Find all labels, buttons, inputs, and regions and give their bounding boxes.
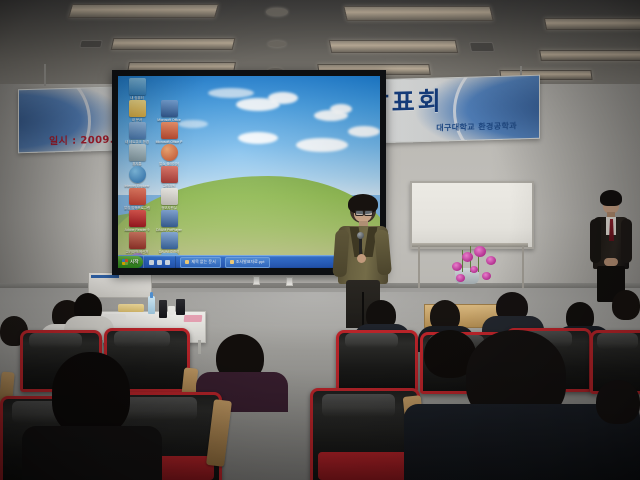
cloud-shape xyxy=(208,88,254,98)
audience-head xyxy=(596,380,640,424)
wall-outlet xyxy=(253,276,260,285)
staff-hair xyxy=(600,190,622,206)
potplayer-icon xyxy=(161,210,178,227)
desktop-icon[interactable]: 내 문서 xyxy=(122,100,152,122)
ceiling-speaker-icon xyxy=(266,8,288,16)
orchid-bloom xyxy=(462,252,473,262)
adobe-reader-icon xyxy=(129,210,146,227)
desktop-icon[interactable]: 알집 압축프로그램 xyxy=(122,188,152,210)
whiteboard-leg xyxy=(418,246,420,288)
table-leg xyxy=(198,340,201,354)
desktop-icon[interactable]: 알쇼 플레이어 xyxy=(154,144,184,166)
seat-gloss xyxy=(597,333,638,348)
start-button[interactable]: 시작 xyxy=(118,256,143,268)
orchid-bloom xyxy=(452,262,462,271)
presenter-arm-right xyxy=(374,229,392,275)
daum-cleaner-icon xyxy=(161,232,178,249)
orchid-bloom xyxy=(482,272,491,280)
ms-word-icon xyxy=(161,100,178,117)
water-bottle xyxy=(150,292,153,298)
audience-shoulders xyxy=(22,426,162,480)
network-places-icon xyxy=(129,122,146,139)
cloud-shape xyxy=(238,132,278,144)
ms-powerpoint-icon xyxy=(161,122,178,139)
presenter-glasses xyxy=(355,210,364,216)
seat-gloss xyxy=(29,333,82,348)
staff-arm-right xyxy=(621,219,632,263)
ceiling-light-fixture xyxy=(544,18,640,30)
ceiling-light-fixture xyxy=(539,50,640,61)
radiator-strip xyxy=(91,275,119,278)
microphone-icon xyxy=(357,232,364,239)
taskbar-item-icon xyxy=(185,260,189,264)
banner-hanger xyxy=(44,64,46,86)
auditorium-seat xyxy=(336,330,412,386)
desktop-icon[interactable]: 고객지원 xyxy=(154,166,184,188)
desktop-icon[interactable]: DAUM PotPlayer xyxy=(154,210,184,232)
lecture-hall-photo: 대구대학교 대학원 발표회 대구대학교 발표회 일시 : 2009. 11. 2… xyxy=(0,0,640,480)
messenger-icon xyxy=(129,232,146,249)
orchid-bloom xyxy=(470,266,478,273)
seat-cushion xyxy=(318,452,414,480)
cloud-shape xyxy=(330,104,352,114)
seat-gloss xyxy=(345,333,398,348)
taskbar-item-label: 조사발표자료.ppt xyxy=(236,259,265,265)
audience-head xyxy=(52,352,130,436)
whiteboard-leg xyxy=(522,246,524,288)
desktop-icon[interactable]: 내 네트워크 환경 xyxy=(122,122,152,144)
windows-flag-icon xyxy=(122,259,128,265)
presenter-hand xyxy=(357,254,366,263)
orchid-bloom xyxy=(486,256,496,265)
my-computer-icon xyxy=(129,78,146,95)
orchid-bloom xyxy=(456,274,465,282)
presenter-leg-split xyxy=(362,292,364,328)
document-file-icon xyxy=(161,188,178,205)
internet-explorer-icon xyxy=(129,166,146,183)
seat-gloss xyxy=(322,394,395,418)
staff-in-suit xyxy=(590,190,632,302)
ceiling-light-fixture xyxy=(329,40,459,53)
seat-gloss xyxy=(114,331,170,346)
taskbar-item-icon xyxy=(230,260,234,264)
ceiling-vent xyxy=(79,40,103,48)
start-button-label: 시작 xyxy=(130,259,138,265)
desktop-icon[interactable]: 내 컴퓨터 xyxy=(122,78,152,100)
audience-head xyxy=(612,290,640,320)
drink-can xyxy=(176,299,185,315)
ceiling-light-fixture xyxy=(343,6,493,21)
presenter-glasses xyxy=(364,210,373,216)
staff-hands xyxy=(604,258,618,266)
alshow-player-icon xyxy=(161,144,178,161)
taskbar-item[interactable]: 조사발표자료.ppt xyxy=(225,257,270,268)
desktop-icon[interactable]: 고려대학 메신저 xyxy=(122,232,152,254)
quick-launch-bar[interactable] xyxy=(143,256,176,268)
desktop-icon[interactable]: 휴지통 xyxy=(122,144,152,166)
ceiling-light-fixture xyxy=(68,4,219,18)
pink-leaflet xyxy=(184,315,203,322)
staff-arm-left xyxy=(590,219,601,263)
quick-launch-desktop-icon[interactable] xyxy=(157,260,162,265)
support-icon xyxy=(161,166,178,183)
seat-gloss xyxy=(121,397,197,420)
ceiling-speaker-icon xyxy=(268,41,286,47)
whiteboard xyxy=(410,181,534,249)
desktop-icon[interactable]: Adobe Reader 9 xyxy=(122,210,152,232)
cloud-shape xyxy=(268,92,298,104)
ceiling-light-fixture xyxy=(111,38,236,50)
desktop-icon[interactable]: Internet Explorer xyxy=(122,166,152,188)
snack-tray xyxy=(118,304,144,312)
taskbar-item[interactable]: 제목 없는 문서 xyxy=(180,257,220,268)
alzip-icon xyxy=(129,188,146,205)
taskbar-item-label: 제목 없는 문서 xyxy=(191,259,215,265)
ceiling-vent xyxy=(469,42,495,52)
drink-can xyxy=(159,300,167,318)
cloud-shape xyxy=(348,126,380,137)
quick-launch-ie-icon[interactable] xyxy=(149,260,154,265)
paper-cup xyxy=(168,306,175,315)
wall-outlet xyxy=(286,277,293,286)
quick-launch-media-icon[interactable] xyxy=(165,260,170,265)
recycle-bin-icon xyxy=(129,144,146,161)
cloud-shape xyxy=(296,138,348,152)
desktop-icon[interactable]: DAUM 클래식 xyxy=(154,232,184,254)
orchid-bloom xyxy=(474,246,486,257)
desktop-icon[interactable]: 정보지원실 xyxy=(154,188,184,210)
radiator-unit xyxy=(88,272,152,298)
water-bottle xyxy=(148,296,155,314)
my-documents-icon xyxy=(129,100,146,117)
